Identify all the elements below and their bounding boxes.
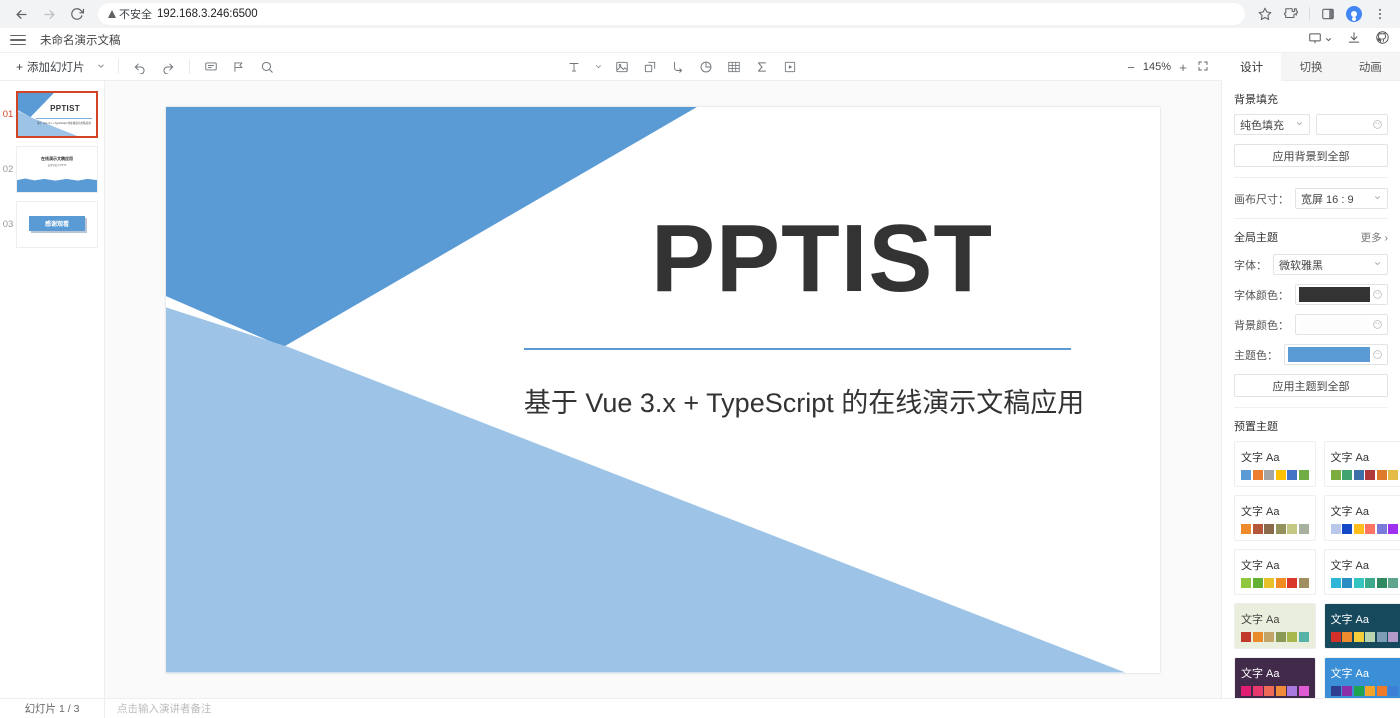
slide-canvas[interactable]: PPTIST 基于 Vue 3.x + TypeScript 的在线演示文稿应用 bbox=[166, 107, 1160, 673]
side-panel-icon bbox=[1321, 7, 1335, 21]
slide-canvas-area[interactable]: PPTIST 基于 Vue 3.x + TypeScript 的在线演示文稿应用 bbox=[105, 81, 1221, 698]
preset-theme-sample-text: 文字 Aa bbox=[1241, 449, 1309, 465]
canvas-size-row: 画布尺寸： 宽屏 16 : 9 bbox=[1234, 188, 1388, 209]
preset-theme-swatch bbox=[1299, 686, 1309, 696]
global-theme-header: 全局主题 更多 › bbox=[1234, 229, 1388, 245]
pointer-button[interactable] bbox=[228, 56, 250, 78]
sigma-icon bbox=[755, 60, 769, 74]
preset-theme-sample-text: 文字 Aa bbox=[1331, 503, 1399, 519]
find-button[interactable] bbox=[256, 56, 278, 78]
github-link[interactable] bbox=[1375, 30, 1390, 50]
preset-theme-swatch bbox=[1388, 632, 1398, 642]
canvas-size-select[interactable]: 宽屏 16 : 9 bbox=[1295, 188, 1388, 209]
download-button[interactable] bbox=[1347, 31, 1361, 50]
font-color-swatch bbox=[1299, 287, 1370, 302]
preset-theme-card[interactable]: 文字 Aa bbox=[1234, 603, 1316, 649]
security-indicator[interactable]: 不安全 bbox=[108, 6, 152, 22]
preset-theme-swatch bbox=[1365, 578, 1375, 588]
preset-theme-swatch bbox=[1276, 470, 1286, 480]
preset-theme-swatch bbox=[1287, 578, 1297, 588]
url-text: 192.168.3.246:6500 bbox=[157, 8, 258, 20]
preset-theme-sample-text: 文字 Aa bbox=[1331, 449, 1399, 465]
bg-color-picker[interactable] bbox=[1295, 314, 1388, 335]
chevron-down-icon bbox=[1373, 193, 1382, 204]
browser-action-icons bbox=[1253, 2, 1392, 26]
theme-color-row: 主题色： bbox=[1234, 344, 1388, 365]
preset-theme-swatches bbox=[1241, 470, 1309, 480]
media-icon bbox=[783, 60, 797, 74]
text-icon bbox=[567, 60, 581, 74]
preset-theme-swatch bbox=[1365, 686, 1375, 696]
zoom-out-button[interactable]: − bbox=[1122, 58, 1140, 76]
global-theme-more-link[interactable]: 更多 › bbox=[1361, 230, 1388, 245]
preset-theme-sample-text: 文字 Aa bbox=[1241, 557, 1309, 573]
global-theme-title: 全局主题 bbox=[1234, 229, 1278, 245]
thumb-title: 感谢观看 bbox=[29, 216, 85, 230]
preset-theme-swatches bbox=[1331, 632, 1399, 642]
preset-themes-title: 预置主题 bbox=[1234, 418, 1388, 434]
preset-theme-swatch bbox=[1331, 470, 1341, 480]
design-panel: 背景填充 纯色填充 应用背景到全部 画布尺寸： 宽屏 16 : 9 bbox=[1221, 81, 1400, 718]
preset-theme-swatches bbox=[1241, 632, 1309, 642]
preset-theme-swatch bbox=[1354, 686, 1364, 696]
preset-theme-swatch bbox=[1241, 578, 1251, 588]
preset-theme-swatch bbox=[1331, 578, 1341, 588]
preset-theme-swatch bbox=[1331, 524, 1341, 534]
toolbar-divider bbox=[189, 59, 190, 74]
preset-theme-swatch bbox=[1287, 686, 1297, 696]
preset-theme-swatch bbox=[1354, 578, 1364, 588]
preset-theme-swatch bbox=[1331, 632, 1341, 642]
preset-theme-swatch bbox=[1264, 470, 1274, 480]
side-panel-button[interactable] bbox=[1316, 2, 1340, 26]
star-icon bbox=[1258, 7, 1272, 21]
preset-theme-swatch bbox=[1287, 470, 1297, 480]
preset-theme-card[interactable]: 文字 Aa bbox=[1234, 549, 1316, 595]
thumbnail-index: 03 bbox=[0, 219, 16, 230]
preset-theme-swatch bbox=[1241, 470, 1251, 480]
bookmark-button[interactable] bbox=[1253, 2, 1277, 26]
font-select[interactable]: 微软雅黑 bbox=[1273, 254, 1388, 275]
preset-theme-swatch bbox=[1276, 632, 1286, 642]
preset-theme-swatch bbox=[1377, 524, 1387, 534]
chart-tool[interactable] bbox=[695, 56, 717, 78]
profile-button[interactable] bbox=[1342, 2, 1366, 26]
thumbnail-preview[interactable]: PPTIST 基于 Vue 3.x + TypeScript 的在线演示文稿应用 bbox=[16, 91, 98, 138]
preset-theme-sample-text: 文字 Aa bbox=[1241, 665, 1309, 681]
chevron-down-icon bbox=[1324, 31, 1333, 49]
puzzle-icon bbox=[1284, 7, 1298, 21]
kebab-menu-icon bbox=[1373, 7, 1387, 21]
thumbnail-index: 02 bbox=[0, 164, 16, 175]
preset-theme-swatch bbox=[1365, 524, 1375, 534]
preset-theme-card[interactable]: 文字 Aa bbox=[1324, 549, 1400, 595]
table-icon bbox=[727, 60, 741, 74]
header-actions bbox=[1308, 30, 1390, 50]
preset-theme-swatch bbox=[1299, 470, 1309, 480]
preset-theme-swatch bbox=[1342, 524, 1352, 534]
preset-theme-swatch bbox=[1287, 524, 1297, 534]
canvas-size-label: 画布尺寸： bbox=[1234, 191, 1289, 207]
add-slide-button[interactable]: + 添加幻灯片 bbox=[10, 57, 91, 77]
app-root: 不安全 192.168.3.246:6500 bbox=[0, 0, 1400, 718]
preset-theme-card[interactable]: 文字 Aa bbox=[1324, 441, 1400, 487]
redo-icon bbox=[161, 60, 175, 74]
color-picker-icon bbox=[1370, 319, 1384, 330]
panel-divider bbox=[1234, 218, 1388, 219]
font-value: 微软雅黑 bbox=[1279, 257, 1323, 273]
slide-thumbnail-list[interactable]: 01 PPTIST 基于 Vue 3.x + TypeScript 的在线演示文… bbox=[0, 81, 105, 698]
preset-theme-swatch bbox=[1342, 686, 1352, 696]
formula-tool[interactable] bbox=[751, 56, 773, 78]
bg-color-swatch bbox=[1299, 317, 1370, 332]
editor-toolbar: + 添加幻灯片 bbox=[0, 53, 1400, 81]
tab-design[interactable]: 设计 bbox=[1222, 53, 1281, 81]
thumb-wave-shape bbox=[17, 177, 97, 192]
plus-icon: + bbox=[16, 61, 23, 73]
toolbar-right-group: − 145% + 设计 切换 动画 bbox=[1122, 53, 1400, 81]
preset-theme-swatch bbox=[1377, 578, 1387, 588]
apply-background-all-button[interactable]: 应用背景到全部 bbox=[1234, 144, 1388, 167]
thumbnail-item-3[interactable]: 03 感谢观看 bbox=[0, 197, 104, 252]
color-picker-icon bbox=[1370, 119, 1384, 130]
download-icon bbox=[1347, 31, 1361, 50]
preset-theme-swatches bbox=[1241, 686, 1309, 696]
tab-transition[interactable]: 切换 bbox=[1281, 53, 1340, 81]
line-icon bbox=[671, 60, 685, 74]
table-tool[interactable] bbox=[723, 56, 745, 78]
preset-theme-card[interactable]: 文字 Aa bbox=[1234, 495, 1316, 541]
font-label: 字体： bbox=[1234, 257, 1267, 273]
reload-icon bbox=[70, 7, 84, 21]
preset-theme-swatch bbox=[1241, 524, 1251, 534]
preset-theme-sample-text: 文字 Aa bbox=[1331, 611, 1399, 627]
font-row: 字体： 微软雅黑 bbox=[1234, 254, 1388, 275]
background-fill-type-select[interactable]: 纯色填充 bbox=[1234, 114, 1310, 135]
chevron-down-icon bbox=[96, 58, 106, 76]
preset-theme-swatch bbox=[1377, 632, 1387, 642]
font-color-picker[interactable] bbox=[1295, 284, 1388, 305]
search-icon bbox=[260, 60, 274, 74]
preset-theme-sample-text: 文字 Aa bbox=[1331, 665, 1399, 681]
zoom-value: 145% bbox=[1142, 61, 1172, 73]
preset-theme-swatch bbox=[1264, 686, 1274, 696]
theme-color-label: 主题色： bbox=[1234, 347, 1278, 363]
preset-theme-swatch bbox=[1342, 632, 1352, 642]
profile-avatar-icon bbox=[1346, 6, 1362, 22]
font-color-label: 字体颜色： bbox=[1234, 287, 1289, 303]
preset-theme-swatch bbox=[1388, 686, 1398, 696]
thumb-subtitle: 支持导出为 PPTX bbox=[17, 163, 97, 167]
preset-theme-swatch bbox=[1354, 632, 1364, 642]
panel-tab-bar: 设计 切换 动画 bbox=[1222, 53, 1400, 81]
preset-theme-swatches bbox=[1241, 524, 1309, 534]
present-button[interactable] bbox=[1308, 31, 1333, 50]
preset-theme-swatch bbox=[1299, 578, 1309, 588]
slide-counter: 幻灯片 1 / 3 bbox=[0, 699, 105, 718]
slide-title-text[interactable]: PPTIST bbox=[524, 211, 1120, 307]
preset-theme-swatch bbox=[1388, 578, 1398, 588]
undo-button[interactable] bbox=[129, 56, 151, 78]
font-color-row: 字体颜色： bbox=[1234, 284, 1388, 305]
chrome-menu-button[interactable] bbox=[1368, 2, 1392, 26]
toolbar-divider bbox=[118, 59, 119, 74]
shape-icon bbox=[643, 60, 657, 74]
preset-theme-swatch bbox=[1241, 632, 1251, 642]
preset-theme-swatch bbox=[1331, 686, 1341, 696]
preset-theme-grid: 文字 Aa文字 Aa文字 Aa文字 Aa文字 Aa文字 Aa文字 Aa文字 Aa… bbox=[1234, 441, 1388, 703]
preset-theme-swatch bbox=[1342, 578, 1352, 588]
background-color-picker[interactable] bbox=[1316, 114, 1388, 135]
panel-divider bbox=[1234, 407, 1388, 408]
forward-button[interactable] bbox=[36, 1, 62, 27]
slide-subtitle-text[interactable]: 基于 Vue 3.x + TypeScript 的在线演示文稿应用 bbox=[524, 381, 1081, 420]
preset-theme-swatch bbox=[1388, 524, 1398, 534]
zoom-in-button[interactable]: + bbox=[1174, 58, 1192, 76]
preset-theme-swatches bbox=[1241, 578, 1309, 588]
preset-theme-card[interactable]: 文字 Aa bbox=[1324, 495, 1400, 541]
preset-theme-swatch bbox=[1299, 632, 1309, 642]
preset-theme-swatches bbox=[1331, 686, 1399, 696]
chevron-down-icon bbox=[1373, 259, 1382, 270]
security-label: 不安全 bbox=[119, 6, 152, 22]
preset-theme-swatch bbox=[1253, 686, 1263, 696]
note-icon bbox=[204, 60, 218, 74]
document-title[interactable]: 未命名演示文稿 bbox=[40, 32, 121, 48]
back-button[interactable] bbox=[8, 1, 34, 27]
preset-theme-swatch bbox=[1264, 632, 1274, 642]
text-tool-dropdown[interactable] bbox=[588, 57, 608, 77]
reload-button[interactable] bbox=[64, 1, 90, 27]
preset-theme-swatch bbox=[1365, 470, 1375, 480]
zoom-controls: − 145% + bbox=[1122, 58, 1222, 76]
background-fill-type-value: 纯色填充 bbox=[1240, 117, 1284, 133]
add-slide-dropdown[interactable] bbox=[91, 57, 111, 77]
canvas-size-value: 宽屏 16 : 9 bbox=[1301, 191, 1354, 207]
preset-theme-swatch bbox=[1264, 524, 1274, 534]
preset-theme-swatch bbox=[1365, 632, 1375, 642]
hamburger-menu-icon[interactable] bbox=[10, 35, 26, 45]
app-header: 未命名演示文稿 bbox=[0, 28, 1400, 53]
color-picker-icon bbox=[1370, 349, 1384, 360]
undo-icon bbox=[133, 60, 147, 74]
github-icon bbox=[1375, 30, 1390, 50]
speaker-notes-input[interactable]: 点击输入演讲者备注 bbox=[105, 701, 212, 716]
chevron-down-icon bbox=[1295, 119, 1304, 130]
thumb-title: 在线演示文稿应用 bbox=[17, 156, 97, 162]
panel-divider bbox=[1234, 177, 1388, 178]
insert-tools-group bbox=[560, 53, 804, 81]
preset-theme-swatch bbox=[1253, 524, 1263, 534]
preset-theme-swatch bbox=[1253, 470, 1263, 480]
preset-theme-swatch bbox=[1253, 632, 1263, 642]
preset-theme-swatch bbox=[1241, 686, 1251, 696]
preset-theme-swatch bbox=[1264, 578, 1274, 588]
preset-theme-card[interactable]: 文字 Aa bbox=[1234, 441, 1316, 487]
preset-theme-card[interactable]: 文字 Aa bbox=[1324, 657, 1400, 703]
image-icon bbox=[615, 60, 629, 74]
redo-button[interactable] bbox=[157, 56, 179, 78]
preset-theme-swatches bbox=[1331, 470, 1399, 480]
background-fill-title: 背景填充 bbox=[1234, 91, 1388, 107]
background-color-swatch bbox=[1320, 117, 1370, 132]
image-tool[interactable] bbox=[611, 56, 633, 78]
thumbnail-item-1[interactable]: 01 PPTIST 基于 Vue 3.x + TypeScript 的在线演示文… bbox=[0, 87, 104, 142]
preset-theme-swatch bbox=[1354, 524, 1364, 534]
slide-divider-line[interactable] bbox=[524, 348, 1071, 350]
bg-color-row: 背景颜色： bbox=[1234, 314, 1388, 335]
preset-theme-swatch bbox=[1276, 524, 1286, 534]
back-arrow-icon bbox=[14, 7, 29, 22]
preset-theme-swatch bbox=[1388, 470, 1398, 480]
preset-theme-card[interactable]: 文字 Aa bbox=[1234, 657, 1316, 703]
toolbar-divider bbox=[1309, 7, 1310, 21]
background-fill-row: 纯色填充 bbox=[1234, 114, 1388, 135]
fullscreen-icon bbox=[1197, 60, 1209, 75]
thumbnail-index: 01 bbox=[0, 109, 16, 120]
thumb-subtitle: 基于 Vue 3.x + TypeScript 的在线演示文稿应用 bbox=[36, 118, 92, 125]
warning-triangle-icon bbox=[108, 10, 116, 18]
extensions-button[interactable] bbox=[1279, 2, 1303, 26]
pie-chart-icon bbox=[699, 60, 713, 74]
media-tool[interactable] bbox=[779, 56, 801, 78]
preset-theme-swatch bbox=[1299, 524, 1309, 534]
preset-theme-swatch bbox=[1276, 578, 1286, 588]
preset-theme-swatch bbox=[1253, 578, 1263, 588]
preset-theme-sample-text: 文字 Aa bbox=[1331, 557, 1399, 573]
thumbnail-preview[interactable]: 在线演示文稿应用 支持导出为 PPTX bbox=[16, 146, 98, 193]
preset-theme-swatches bbox=[1331, 524, 1399, 534]
note-button[interactable] bbox=[200, 56, 222, 78]
theme-color-picker[interactable] bbox=[1284, 344, 1388, 365]
apply-theme-all-button[interactable]: 应用主题到全部 bbox=[1234, 374, 1388, 397]
status-bar: 幻灯片 1 / 3 点击输入演讲者备注 bbox=[0, 698, 1400, 718]
fullscreen-button[interactable] bbox=[1194, 58, 1212, 76]
pointer-icon bbox=[232, 60, 246, 74]
chevron-down-icon bbox=[594, 58, 603, 76]
toolbar-left-group: + 添加幻灯片 bbox=[0, 56, 281, 78]
address-bar[interactable]: 不安全 192.168.3.246:6500 bbox=[98, 3, 1245, 25]
present-icon bbox=[1308, 31, 1322, 50]
preset-theme-swatch bbox=[1287, 632, 1297, 642]
shape-tool[interactable] bbox=[639, 56, 661, 78]
theme-color-swatch bbox=[1288, 347, 1370, 362]
tab-animation[interactable]: 动画 bbox=[1341, 53, 1400, 81]
add-slide-label: 添加幻灯片 bbox=[27, 59, 85, 75]
preset-theme-swatches bbox=[1331, 578, 1399, 588]
preset-theme-swatch bbox=[1276, 686, 1286, 696]
preset-theme-card[interactable]: 文字 Aa bbox=[1324, 603, 1400, 649]
text-tool[interactable] bbox=[563, 56, 585, 78]
preset-theme-swatch bbox=[1377, 686, 1387, 696]
line-tool[interactable] bbox=[667, 56, 689, 78]
thumbnail-preview[interactable]: 感谢观看 bbox=[16, 201, 98, 248]
preset-theme-sample-text: 文字 Aa bbox=[1241, 503, 1309, 519]
thumbnail-item-2[interactable]: 02 在线演示文稿应用 支持导出为 PPTX bbox=[0, 142, 104, 197]
bg-color-label: 背景颜色： bbox=[1234, 317, 1289, 333]
forward-arrow-icon bbox=[42, 7, 57, 22]
color-picker-icon bbox=[1370, 289, 1384, 300]
preset-theme-sample-text: 文字 Aa bbox=[1241, 611, 1309, 627]
thumb-title: PPTIST bbox=[40, 104, 90, 113]
browser-toolbar: 不安全 192.168.3.246:6500 bbox=[0, 0, 1400, 28]
preset-theme-swatch bbox=[1342, 470, 1352, 480]
preset-theme-swatch bbox=[1354, 470, 1364, 480]
preset-theme-swatch bbox=[1377, 470, 1387, 480]
